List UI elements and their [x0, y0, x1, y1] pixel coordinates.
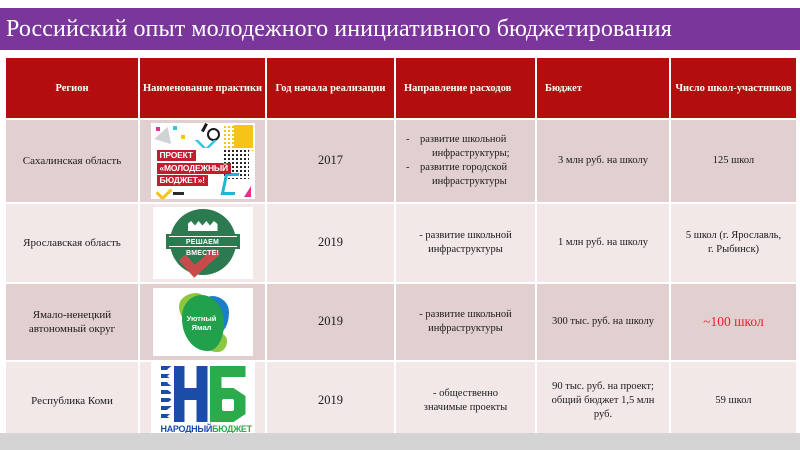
cell-expense-direction: - развитие школьной инфраструктуры; - ра…: [395, 119, 536, 203]
expense-item: - развитие школьной инфраструктуры;: [396, 133, 535, 161]
table-row: Ямало-ненецкий автономный округ Уютный Я…: [5, 283, 797, 361]
table-header-row: Регион Наименование практики Год начала …: [5, 57, 797, 119]
slide-title-bar: Российский опыт молодежного инициативног…: [0, 8, 800, 50]
cell-region: Ямало-ненецкий автономный округ: [5, 283, 139, 361]
cell-schools-count: 5 школ (г. Ярославль, г. Рыбинск): [670, 203, 797, 283]
practices-table-wrapper: Регион Наименование практики Год начала …: [4, 56, 796, 433]
cell-expense-direction: - развитие школьной инфраструктуры: [395, 283, 536, 361]
expense-line: значимые проекты: [396, 401, 535, 415]
black-dash-icon: [173, 192, 184, 195]
cell-start-year: 2019: [266, 283, 395, 361]
logo-narodny-byudzhet: НАРОДНЫЙБЮДЖЕТ: [151, 362, 255, 440]
cyan-zigzag-icon: [195, 140, 217, 148]
table-header: Регион Наименование практики Год начала …: [5, 57, 797, 119]
expense-item-text: развитие городской инфраструктуры: [420, 162, 507, 187]
region-line: Ямало-ненецкий: [33, 309, 111, 321]
table-row: Республика Коми НАРОДНЫЙБЮДЖЕТ 2019 - об…: [5, 361, 797, 441]
cell-start-year: 2019: [266, 361, 395, 441]
letter-n-icon: [174, 366, 208, 422]
cell-practice-logo: Уютный Ямал: [139, 283, 266, 361]
logo-line-3: БЮДЖЕТ»!: [157, 175, 208, 186]
cell-region: Республика Коми: [5, 361, 139, 441]
confetti-cyan-icon: [173, 126, 177, 130]
logo-label: РЕШАЕМ ВМЕСТЕ!: [169, 236, 237, 247]
budget-line: общий бюджет 1,5 млн: [552, 395, 655, 406]
letter-b-icon: [210, 366, 246, 422]
expense-line: - общественно: [396, 387, 535, 401]
slide: Российский опыт молодежного инициативног…: [0, 0, 800, 450]
expense-dash: -: [406, 162, 410, 173]
yellow-block-icon: [234, 125, 253, 148]
budget-line: 90 тыс. руб. на проект;: [552, 381, 654, 392]
column-header-start-year: Год начала реализации: [266, 57, 395, 119]
budget-line: руб.: [594, 409, 612, 420]
cell-schools-count: 125 школ: [670, 119, 797, 203]
practices-table: Регион Наименование практики Год начала …: [4, 56, 798, 442]
expense-line: - развитие школьной: [396, 308, 535, 322]
cell-schools-count: ~100 школ: [670, 283, 797, 361]
expense-item: - развитие городской инфраструктуры: [396, 161, 535, 189]
cell-expense-direction: - развитие школьной инфраструктуры: [395, 203, 536, 283]
column-header-schools-count: Число школ-участников: [670, 57, 797, 119]
schools-line: г. Рыбинск): [708, 244, 759, 255]
logo-line-2: Ямал: [192, 323, 212, 332]
expense-item-text: развитие школьной инфраструктуры;: [420, 134, 510, 159]
letter-b-counter-icon: [222, 399, 234, 411]
table-row: Ярославская область РЕШАЕМ ВМЕСТЕ! 2019 …: [5, 203, 797, 283]
cell-practice-logo: НАРОДНЫЙБЮДЖЕТ: [139, 361, 266, 441]
cell-expense-direction: - общественно значимые проекты: [395, 361, 536, 441]
logo-line-2: «МОЛОДЕЖНЫЙ: [157, 163, 231, 174]
slide-footer-band: [0, 433, 800, 450]
cell-budget: 300 тыс. руб. на школу: [536, 283, 670, 361]
cell-start-year: 2019: [266, 203, 395, 283]
table-body: Сахалинская область: [5, 119, 797, 441]
cell-practice-logo: ПРОЕКТ «МОЛОДЕЖНЫЙ БЮДЖЕТ»!: [139, 119, 266, 203]
column-header-budget: Бюджет: [536, 57, 670, 119]
cell-budget: 1 млн руб. на школу: [536, 203, 670, 283]
expense-line: инфраструктуры: [396, 322, 535, 336]
logo-line-1: Уютный: [187, 314, 217, 323]
cell-practice-logo: РЕШАЕМ ВМЕСТЕ!: [139, 203, 266, 283]
logo-line-1: ПРОЕКТ: [157, 150, 196, 161]
confetti-yellow-icon: [181, 135, 185, 139]
logo-label: Уютный Ямал: [184, 314, 220, 332]
logo-reshaem-vmeste: РЕШАЕМ ВМЕСТЕ!: [153, 207, 253, 279]
page-title: Российский опыт молодежного инициативног…: [0, 16, 672, 42]
cell-start-year: 2017: [266, 119, 395, 203]
column-header-expense-direction: Направление расходов: [395, 57, 536, 119]
column-header-region: Регион: [5, 57, 139, 119]
confetti-pink-icon: [156, 127, 160, 131]
logo-sakhalin-molodezhny-byudzhet: ПРОЕКТ «МОЛОДЕЖНЫЙ БЮДЖЕТ»!: [151, 123, 255, 199]
region-line: автономный округ: [29, 323, 115, 335]
column-header-practice: Наименование практики: [139, 57, 266, 119]
expense-line: инфраструктуры: [396, 243, 535, 257]
blue-zigzag-ornament-icon: [161, 366, 172, 422]
cell-budget: 3 млн руб. на школу: [536, 119, 670, 203]
expense-dash: -: [406, 134, 410, 145]
schools-line: 5 школ (г. Ярославль,: [686, 230, 781, 241]
cell-region: Сахалинская область: [5, 119, 139, 203]
pink-triangle-icon: [244, 186, 251, 197]
cell-region: Ярославская область: [5, 203, 139, 283]
cell-schools-count: 59 школ: [670, 361, 797, 441]
logo-text-bars: ПРОЕКТ «МОЛОДЕЖНЫЙ БЮДЖЕТ»!: [157, 150, 231, 188]
table-row: Сахалинская область: [5, 119, 797, 203]
logo-uyutny-yamal: Уютный Ямал: [153, 288, 253, 356]
cell-budget: 90 тыс. руб. на проект; общий бюджет 1,5…: [536, 361, 670, 441]
expense-line: - развитие школьной: [396, 229, 535, 243]
